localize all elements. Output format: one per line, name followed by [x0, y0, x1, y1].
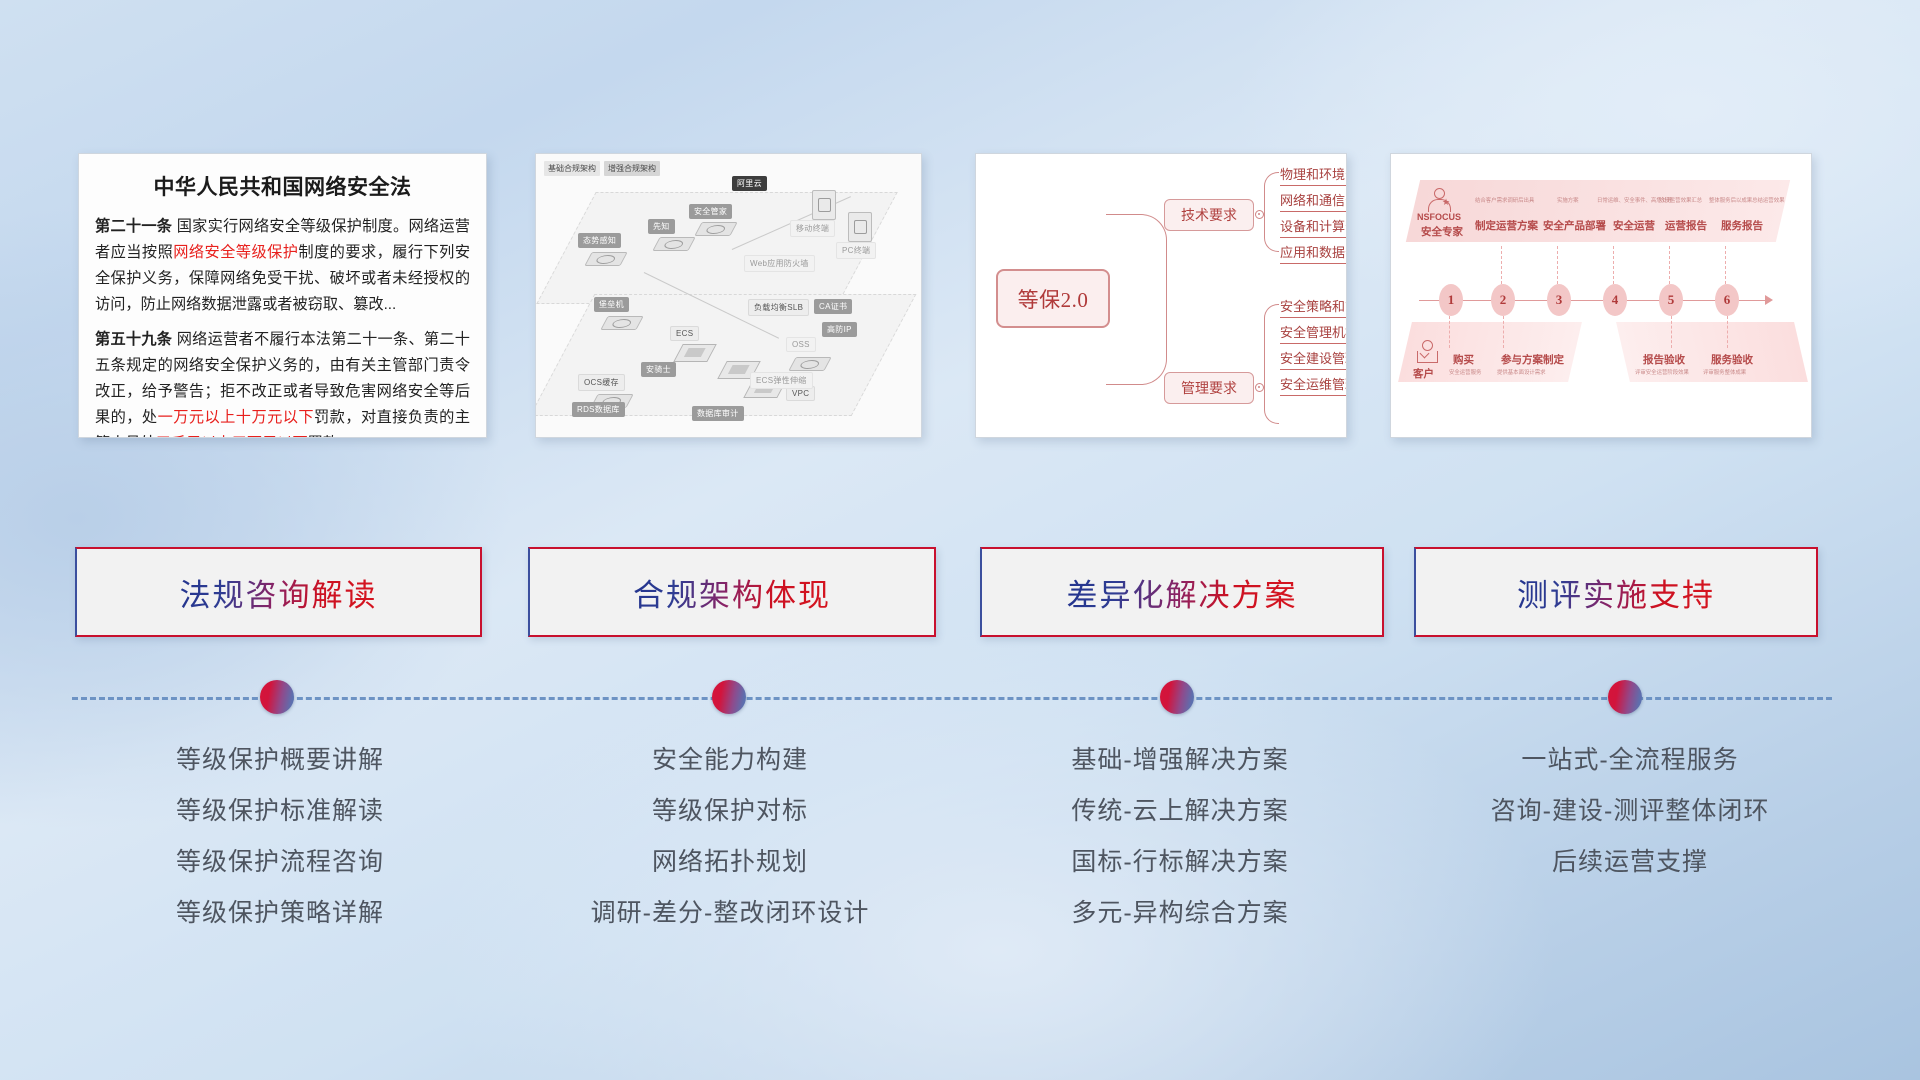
node-label-db-audit: 数据库审计 [692, 406, 744, 421]
node-label-aliyun: 阿里云 [732, 176, 767, 191]
timeline-tick [1725, 246, 1727, 284]
mindmap-leaf: 网络和通信安全 [1280, 190, 1347, 212]
mindmap-root: 等保2.0 [996, 269, 1110, 328]
law-title: 中华人民共和国网络安全法 [95, 171, 470, 201]
bottom-step-desc: 评审服务整体成果 [1703, 368, 1746, 376]
bottom-step-desc: 提供基本面设计需求 [1497, 368, 1546, 376]
node-label-ecs-autoscale: ECS弹性伸缩 [750, 372, 813, 389]
icon-box [678, 340, 710, 364]
node-label-ecs: ECS [670, 326, 699, 341]
icon-cylinder [604, 310, 638, 332]
timeline-tick [1727, 316, 1729, 348]
heading-label: 测评实施支持 [1517, 570, 1715, 615]
mindmap-leaf: 物理和环境安全 [1280, 164, 1347, 186]
detail-item: 调研-差分-整改闭环设计 [490, 888, 970, 939]
detail-item: 等级保护策略详解 [40, 888, 520, 939]
node-label-anqishi: 安骑士 [641, 362, 676, 377]
mindmap-leaf: 设备和计算安全 [1280, 216, 1347, 238]
timeline-tick [1501, 246, 1503, 284]
timeline-node-3[interactable]: 3 [1547, 284, 1571, 316]
bottom-step-title: 报告验收 [1643, 352, 1685, 367]
tab-enhanced-architecture[interactable]: 增强合规架构 [604, 161, 660, 176]
timeline-dashed-line [72, 697, 1832, 700]
node-label-waf: Web应用防火墙 [744, 255, 815, 272]
timeline-node-2[interactable]: 2 [1491, 284, 1515, 316]
top-step-desc: 结合客户需求调研后出具 [1475, 196, 1534, 204]
mindmap: 等保2.0 技术要求 物理和环境安全 网络和通信安全 设备和计算安全 应用和数据… [976, 154, 1346, 437]
detail-item: 等级保护概要讲解 [40, 735, 520, 786]
client-person-icon [1417, 340, 1437, 364]
mindmap-leaf: 安全运维管理 [1280, 374, 1347, 396]
node-label-rds: RDS数据库 [572, 402, 625, 417]
node-label-anti-ddos: 高防IP [822, 322, 857, 337]
timeline-node-4[interactable]: 4 [1603, 284, 1627, 316]
top-step-title: 制定运营方案 [1475, 218, 1538, 233]
timeline-tick [1557, 246, 1559, 284]
detail-column-3: 基础-增强解决方案 传统-云上解决方案 国标-行标解决方案 多元-异构综合方案 [940, 735, 1420, 939]
law-paragraph-59: 第五十九条 网络运营者不履行本法第二十一条、第二十五条规定的网络安全保护义务的，… [95, 327, 470, 438]
detail-item: 国标-行标解决方案 [940, 837, 1420, 888]
icon-cylinder [588, 246, 622, 268]
timeline-tick [1503, 316, 1505, 348]
detail-column-2: 安全能力构建 等级保护对标 网络拓扑规划 调研-差分-整改闭环设计 [490, 735, 970, 939]
mindmap-curve-tech [1106, 214, 1167, 298]
card-dengbao-mindmap[interactable]: 等保2.0 技术要求 物理和环境安全 网络和通信安全 设备和计算安全 应用和数据… [975, 153, 1347, 438]
top-step-title: 服务报告 [1721, 218, 1763, 233]
node-label-pc-terminal: PC终端 [836, 242, 876, 259]
heading-box-regulatory-consulting[interactable]: 法规咨询解读 [75, 547, 482, 637]
detail-column-4: 一站式-全流程服务 咨询-建设-测评整体闭环 后续运营支撑 [1390, 735, 1870, 888]
node-label-slb: 负载均衡SLB [748, 299, 809, 316]
timeline-tick [1669, 246, 1671, 284]
mindmap-leaf: 安全策略和管理制度 [1280, 296, 1347, 318]
heading-box-assessment-support[interactable]: 测评实施支持 [1414, 547, 1818, 637]
mindmap-collapse-dot-management[interactable] [1255, 383, 1264, 392]
law-article-no-21: 第二十一条 [95, 218, 172, 235]
nsfocus-client-label: 客户 [1413, 366, 1434, 381]
detail-column-1: 等级保护概要讲解 等级保护标准解读 等级保护流程咨询 等级保护策略详解 [40, 735, 520, 939]
architecture-tabs: 基础合规架构 增强合规架构 [544, 161, 660, 176]
detail-item: 基础-增强解决方案 [940, 735, 1420, 786]
law-run: 罚款。 [308, 435, 354, 438]
law-paragraph-21: 第二十一条 国家实行网络安全等级保护制度。网络运营者应当按照网络安全等级保护制度… [95, 214, 470, 318]
mindmap-leaf: 安全建设管理 [1280, 348, 1347, 370]
icon-cylinder [792, 351, 826, 373]
top-step-desc: 阶段运营效果汇总 [1659, 196, 1702, 204]
top-step-desc: 整体服务后以成果总结运营效果 [1709, 196, 1784, 204]
top-step-title: 运营报告 [1665, 218, 1707, 233]
card-cybersecurity-law[interactable]: 中华人民共和国网络安全法 第二十一条 国家实行网络安全等级保护制度。网络运营者应… [78, 153, 487, 438]
detail-item: 后续运营支撑 [1390, 837, 1870, 888]
timeline-node-1[interactable]: 1 [1439, 284, 1463, 316]
bottom-step-title: 服务验收 [1711, 352, 1753, 367]
bottom-step-title: 参与方案制定 [1501, 352, 1564, 367]
node-label-ca-cert: CA证书 [814, 299, 852, 314]
timeline-node-5[interactable]: 5 [1659, 284, 1683, 316]
mindmap-curve-mgmt [1106, 296, 1167, 385]
heading-label: 合规架构体现 [633, 570, 831, 615]
top-step-title: 安全运营 [1613, 218, 1655, 233]
nsfocus-diagram: ★ NSFOCUS 安全专家 结合客户需求调研后出具 制定运营方案 实施方案 安… [1391, 154, 1811, 437]
timeline-dot-1[interactable] [260, 680, 294, 714]
timeline-tick [1671, 316, 1673, 348]
law-run-highlight: 网络安全等级保护 [173, 244, 298, 261]
timeline-node-6[interactable]: 6 [1715, 284, 1739, 316]
detail-item: 传统-云上解决方案 [940, 786, 1420, 837]
card-nsfocus-service-timeline[interactable]: ★ NSFOCUS 安全专家 结合客户需求调研后出具 制定运营方案 实施方案 安… [1390, 153, 1812, 438]
mindmap-branch-technical: 技术要求 [1164, 199, 1254, 231]
mindmap-branch-management: 管理要求 [1164, 372, 1254, 404]
timeline-dot-3[interactable] [1160, 680, 1194, 714]
detail-item: 等级保护标准解读 [40, 786, 520, 837]
mindmap-fan-management [1264, 304, 1279, 424]
detail-item: 等级保护对标 [490, 786, 970, 837]
timeline-arrow-icon [1765, 295, 1773, 305]
icon-cylinder [698, 216, 732, 238]
mindmap-leaf: 应用和数据安全 [1280, 242, 1347, 264]
heading-box-compliance-architecture[interactable]: 合规架构体现 [528, 547, 936, 637]
top-step-desc: 实施方案 [1557, 196, 1579, 204]
node-label-oss: OSS [786, 337, 816, 352]
bottom-step-title: 购买 [1453, 352, 1474, 367]
tab-basic-architecture[interactable]: 基础合规架构 [544, 161, 600, 176]
detail-item: 一站式-全流程服务 [1390, 735, 1870, 786]
detail-item: 网络拓扑规划 [490, 837, 970, 888]
detail-item: 安全能力构建 [490, 735, 970, 786]
node-label-mobile-terminal: 移动终端 [790, 220, 835, 237]
expert-person-icon: ★ [1427, 188, 1451, 212]
mindmap-fan-technical [1264, 172, 1279, 252]
architecture-diagram: 基础合规架构 增强合规架构 阿里云 安全管家 先知 态势感知 堡垒机 ECS 安… [536, 154, 921, 437]
mindmap-collapse-dot-technical[interactable] [1255, 210, 1264, 219]
card-compliance-architecture[interactable]: 基础合规架构 增强合规架构 阿里云 安全管家 先知 态势感知 堡垒机 ECS 安… [535, 153, 922, 438]
nsfocus-expert-line1: NSFOCUS [1417, 212, 1461, 222]
nsfocus-expert-line2: 安全专家 [1421, 224, 1463, 239]
heading-box-differentiated-solution[interactable]: 差异化解决方案 [980, 547, 1384, 637]
timeline-tick [1449, 316, 1451, 348]
icon-cylinder [656, 231, 690, 253]
timeline-tick [1613, 246, 1615, 284]
detail-item: 等级保护流程咨询 [40, 837, 520, 888]
heading-label: 法规咨询解读 [180, 570, 378, 615]
thumbnail-row: 中华人民共和国网络安全法 第二十一条 国家实行网络安全等级保护制度。网络运营者应… [0, 0, 1920, 440]
law-run-highlight: 五千元以上五万元以下 [156, 435, 308, 438]
timeline-dot-4[interactable] [1608, 680, 1642, 714]
mindmap-leaf: 安全管理机构和人员 [1280, 322, 1347, 344]
law-article-no-59: 第五十九条 [95, 331, 172, 348]
detail-item: 多元-异构综合方案 [940, 888, 1420, 939]
law-card-body: 中华人民共和国网络安全法 第二十一条 国家实行网络安全等级保护制度。网络运营者应… [79, 154, 486, 437]
bottom-step-desc: 评审安全运营阶段效果 [1635, 368, 1689, 376]
icon-terminal-pc [848, 212, 872, 242]
heading-label: 差异化解决方案 [1067, 570, 1298, 615]
law-run-highlight: 一万元以上十万元以下 [158, 409, 314, 426]
icon-terminal-mobile [812, 190, 836, 220]
timeline-dot-2[interactable] [712, 680, 746, 714]
top-step-title: 安全产品部署 [1543, 218, 1606, 233]
detail-item: 咨询-建设-测评整体闭环 [1390, 786, 1870, 837]
bottom-step-desc: 安全运营服务 [1449, 368, 1481, 376]
